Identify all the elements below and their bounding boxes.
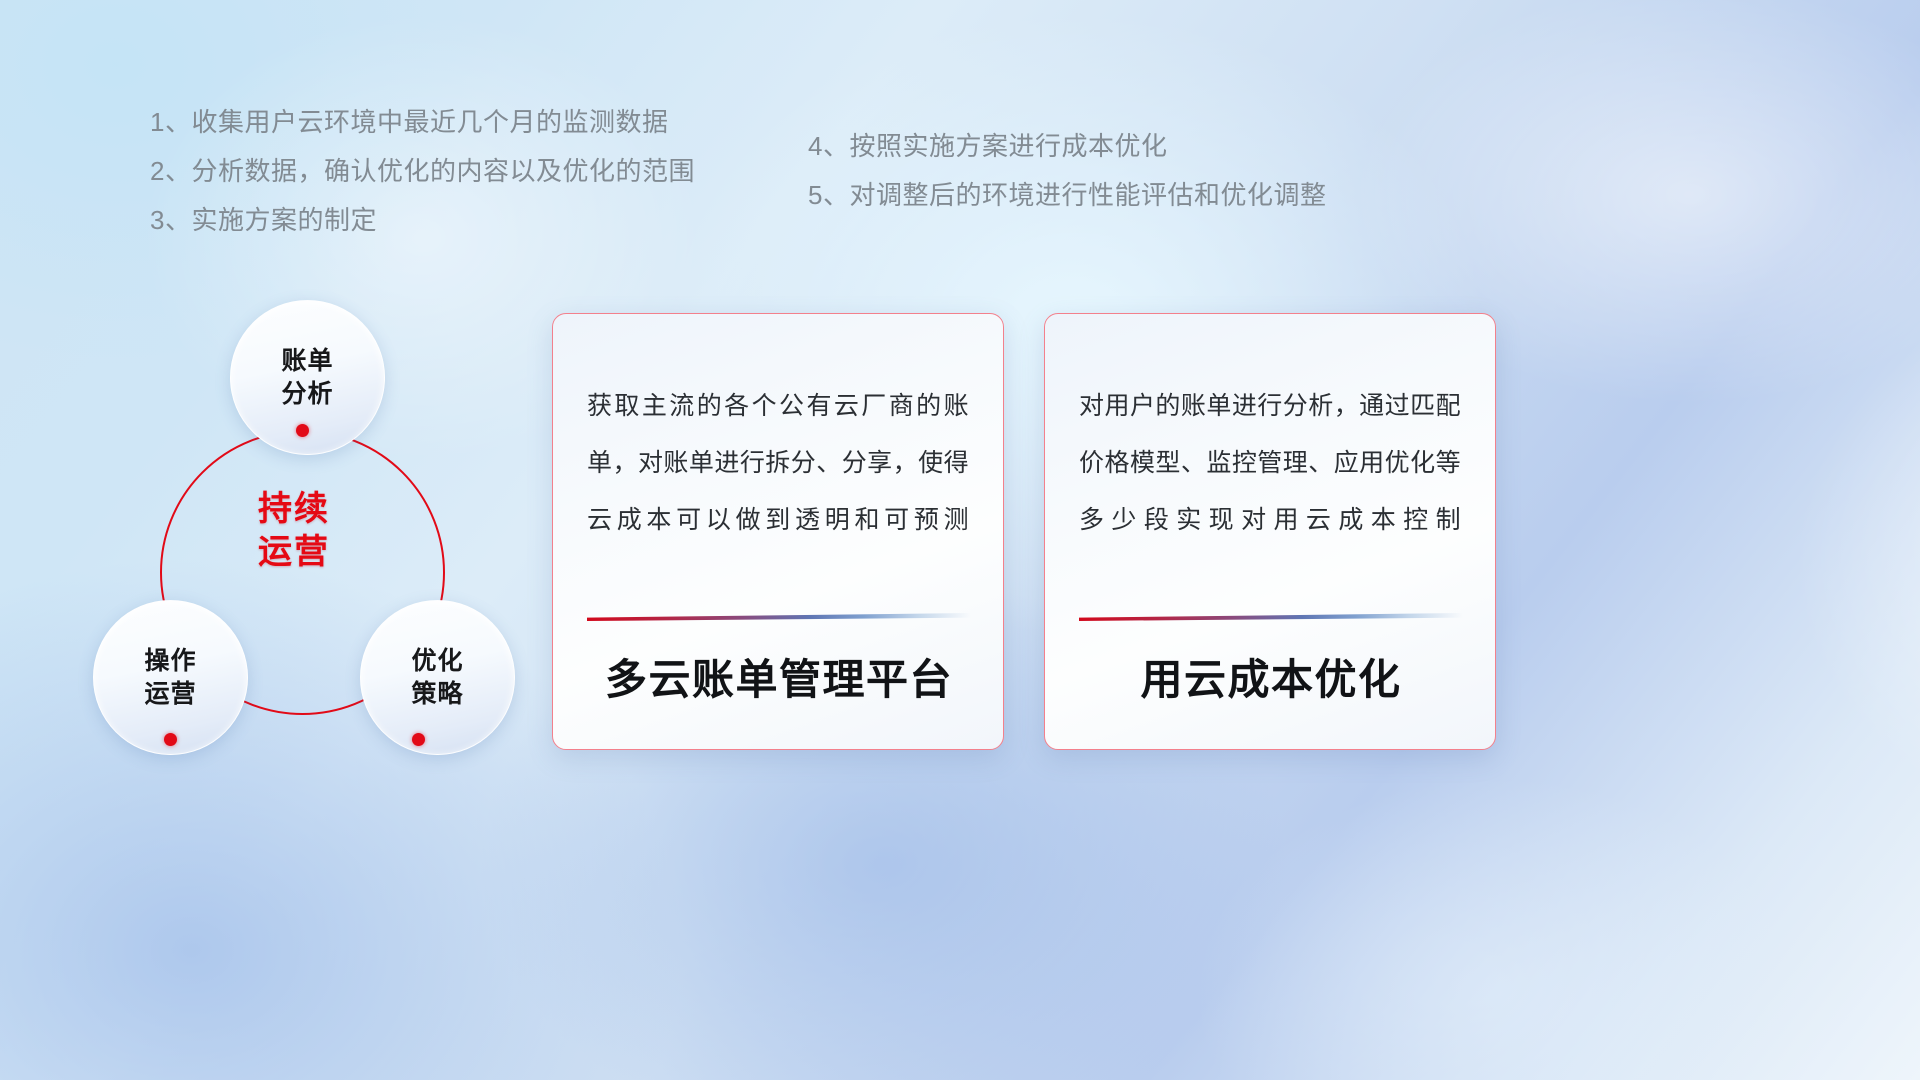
card-body-text: 获取主流的各个公有云厂商的账单，对账单进行拆分、分享，使得云成本可以做到透明和可… [587, 378, 969, 549]
step-item-2: 2、分析数据，确认优化的内容以及优化的范围 [150, 147, 810, 196]
step-item-1: 1、收集用户云环境中最近几个月的监测数据 [150, 98, 810, 147]
step-item-3: 3、实施方案的制定 [150, 196, 810, 245]
node-label-line2: 分析 [281, 378, 333, 411]
card-multi-cloud-billing[interactable]: 获取主流的各个公有云厂商的账单，对账单进行拆分、分享，使得云成本可以做到透明和可… [552, 313, 1004, 750]
card-divider [1079, 613, 1463, 621]
continuous-operations-diagram: 持续 运营 账单 分析 操作 运营 优化 策略 [75, 290, 545, 780]
cycle-node-dot-right [412, 733, 425, 746]
steps-left-column: 1、收集用户云环境中最近几个月的监测数据 2、分析数据，确认优化的内容以及优化的… [150, 98, 810, 245]
card-body-text: 对用户的账单进行分析，通过匹配价格模型、监控管理、应用优化等多少段实现对用云成本… [1079, 378, 1461, 549]
node-label-line1: 优化 [411, 645, 463, 678]
diagram-node-optimization[interactable]: 优化 策略 [360, 600, 515, 755]
cycle-center-label-line2: 运营 [258, 531, 438, 574]
cycle-node-dot-left [164, 733, 177, 746]
cycle-node-dot-top [296, 424, 309, 437]
step-item-5: 5、对调整后的环境进行性能评估和优化调整 [808, 171, 1448, 220]
cycle-center-label: 持续 运营 [258, 488, 438, 574]
node-label-line2: 运营 [144, 678, 196, 711]
diagram-node-operations[interactable]: 操作 运营 [93, 600, 248, 755]
node-label-line2: 策略 [411, 678, 463, 711]
cycle-center-label-line1: 持续 [258, 488, 438, 531]
steps-right-column: 4、按照实施方案进行成本优化 5、对调整后的环境进行性能评估和优化调整 [808, 122, 1448, 220]
slide-canvas: 1、收集用户云环境中最近几个月的监测数据 2、分析数据，确认优化的内容以及优化的… [0, 0, 1920, 1080]
step-item-4: 4、按照实施方案进行成本优化 [808, 122, 1448, 171]
node-label-line1: 账单 [281, 345, 333, 378]
card-divider [587, 613, 971, 621]
node-label-line1: 操作 [144, 645, 196, 678]
card-title: 多云账单管理平台 [587, 646, 971, 707]
section-divider [85, 252, 1845, 261]
card-cloud-cost-optimization[interactable]: 对用户的账单进行分析，通过匹配价格模型、监控管理、应用优化等多少段实现对用云成本… [1044, 313, 1496, 750]
card-title: 用云成本优化 [1079, 646, 1463, 707]
section-divider-bar [85, 252, 1845, 261]
